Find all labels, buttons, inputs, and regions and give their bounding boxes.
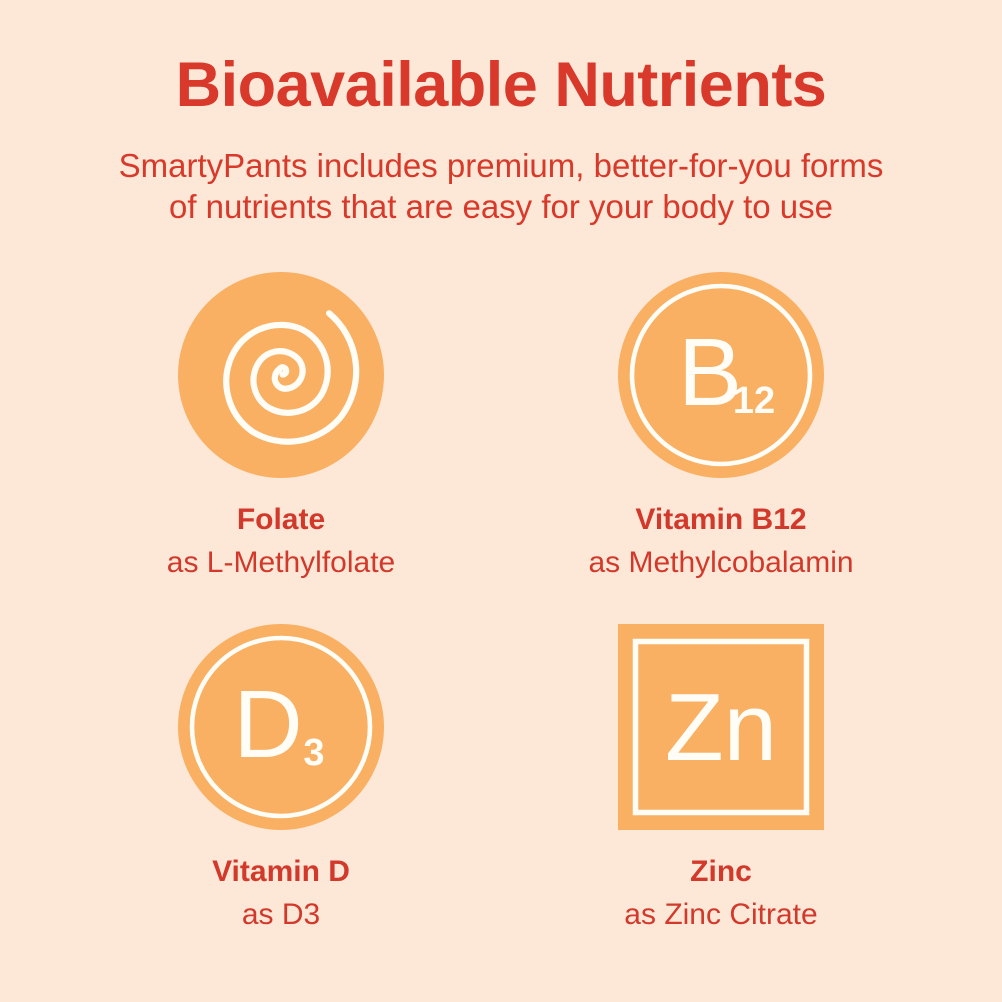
icon-symbol-subscript: 12: [733, 380, 775, 422]
nutrient-card-vitamin-b12: B 12 Vitamin B12 as Methylcobalamin: [501, 272, 941, 624]
nutrient-name: Zinc: [624, 852, 817, 891]
ringed-circle-icon-d3: D 3: [178, 624, 384, 830]
element-square-icon-zinc: Zn: [618, 624, 824, 830]
nutrient-name: Vitamin D: [212, 852, 350, 891]
icon-symbol-text: Zn: [665, 674, 777, 781]
nutrient-card-zinc: Zn Zinc as Zinc Citrate: [501, 624, 941, 976]
nutrient-grid: Folate as L-Methylfolate B 12 Vitamin B1…: [61, 272, 941, 976]
page-title: Bioavailable Nutrients: [0, 52, 1002, 118]
nutrient-form: as D3: [212, 895, 350, 936]
ringed-circle-icon-b12: B 12: [618, 272, 824, 478]
nutrient-form: as Methylcobalamin: [588, 543, 853, 584]
page-subtitle-line-2: of nutrients that are easy for your body…: [51, 187, 951, 228]
nutrient-caption: Zinc as Zinc Citrate: [624, 852, 817, 936]
nutrient-caption: Vitamin B12 as Methylcobalamin: [588, 500, 853, 584]
page-subtitle-line-1: SmartyPants includes premium, better-for…: [51, 146, 951, 187]
nutrient-name: Vitamin B12: [588, 500, 853, 539]
header: Bioavailable Nutrients SmartyPants inclu…: [0, 52, 1002, 228]
bioavailable-nutrients-infographic: Bioavailable Nutrients SmartyPants inclu…: [0, 0, 1002, 1002]
nutrient-caption: Vitamin D as D3: [212, 852, 350, 936]
icon-symbol-subscript: 3: [303, 732, 324, 774]
nutrient-form: as Zinc Citrate: [624, 895, 817, 936]
spiral-circle-icon: [178, 272, 384, 478]
nutrient-name: Folate: [167, 500, 395, 539]
nutrient-card-folate: Folate as L-Methylfolate: [61, 272, 501, 624]
nutrient-form: as L-Methylfolate: [167, 543, 395, 584]
nutrient-card-vitamin-d: D 3 Vitamin D as D3: [61, 624, 501, 976]
page-subtitle: SmartyPants includes premium, better-for…: [51, 146, 951, 228]
icon-symbol-text: D: [233, 671, 302, 778]
nutrient-caption: Folate as L-Methylfolate: [167, 500, 395, 584]
